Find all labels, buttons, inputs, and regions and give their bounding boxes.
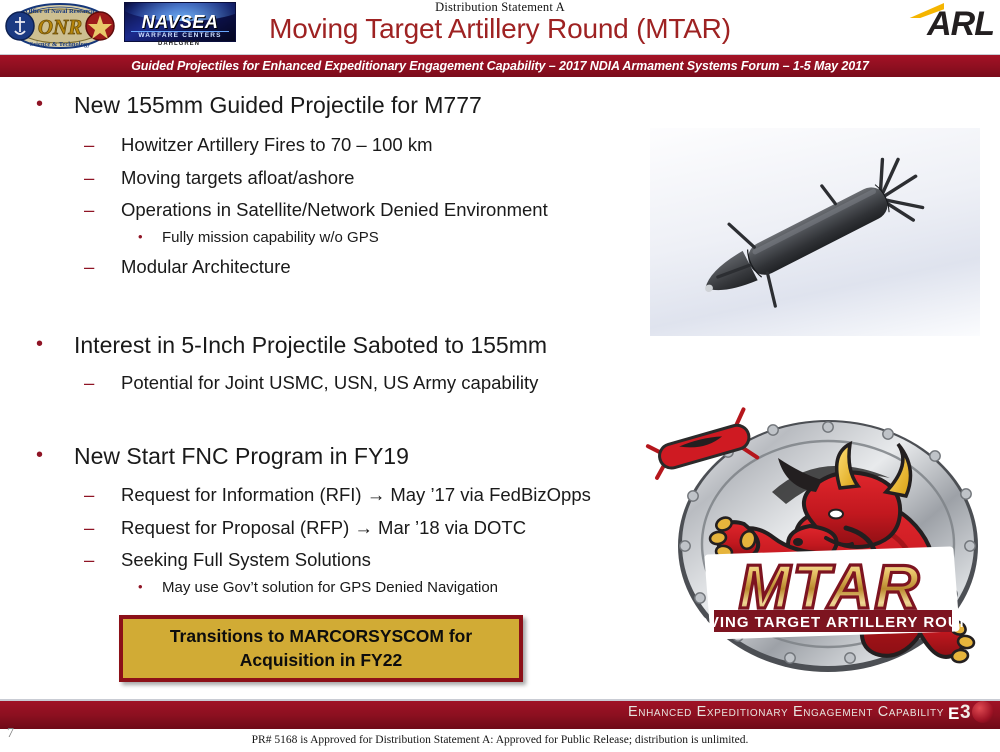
e3c-logo-icon: E 3 — [946, 701, 996, 725]
bullet-l2-item: – Operations in Satellite/Network Denied… — [0, 199, 548, 220]
mtar-emblem-logo: MTAR MOVING TARGET ARTILLERY ROUND — [640, 400, 1000, 692]
dash-marker-icon: – — [84, 256, 94, 277]
bullet-block-3: • New Start FNC Program in FY19 – Reques… — [0, 443, 591, 596]
dash-marker-icon: – — [84, 167, 94, 188]
bullet-l1-text: New Start FNC Program in FY19 — [74, 443, 409, 469]
bullet-l2-text: Howitzer Artillery Fires to 70 – 100 km — [121, 134, 433, 155]
bullet-l1-heading: • Interest in 5-Inch Projectile Saboted … — [0, 332, 547, 358]
mtar-emblem-graphic: MTAR MOVING TARGET ARTILLERY ROUND — [640, 400, 1000, 692]
dash-marker-icon: – — [84, 484, 94, 505]
bullet-l2-text: Operations in Satellite/Network Denied E… — [121, 199, 548, 220]
bullet-l3-item: • May use Gov’t solution for GPS Denied … — [0, 579, 591, 596]
dash-marker-icon: – — [84, 199, 94, 220]
bullet-l2-item: – Potential for Joint USMC, USN, US Army… — [0, 372, 547, 393]
footer-tagline: Enhanced Expeditionary Engagement Capabi… — [628, 704, 944, 720]
e3c-letter-three: 3 — [960, 702, 971, 724]
bullet-l2-text: Request for Information (RFI) → May ’17 … — [121, 484, 591, 505]
bullet-l1-text: Interest in 5-Inch Projectile Saboted to… — [74, 332, 547, 358]
bullet-l1-heading: • New 155mm Guided Projectile for M777 — [0, 92, 548, 118]
callout-line-2: Acquisition in FY22 — [240, 649, 402, 673]
sub-bullet-marker-icon: • — [138, 229, 143, 245]
arl-wordmark: ARL — [886, 5, 994, 44]
bullet-marker-icon: • — [36, 445, 43, 465]
approval-note: PR# 5168 is Approved for Distribution St… — [0, 734, 1000, 746]
e3c-letter-c — [972, 701, 994, 723]
e3c-letter-e: E — [948, 704, 959, 724]
bullet-marker-icon: • — [36, 334, 43, 354]
arl-logo: ARL — [886, 3, 994, 47]
bullet-l2-item: – Seeking Full System Solutions — [0, 549, 591, 570]
bullet-marker-icon: • — [36, 94, 43, 114]
bullet-block-2: • Interest in 5-Inch Projectile Saboted … — [0, 332, 547, 394]
transition-callout-box: Transitions to MARCORSYSCOM for Acquisit… — [119, 615, 523, 682]
mtar-tagline: MOVING TARGET ARTILLERY ROUND — [683, 614, 984, 631]
bullet-l3-item: • Fully mission capability w/o GPS — [0, 229, 548, 246]
page-title: Moving Target Artillery Round (MTAR) — [0, 13, 1000, 45]
dash-marker-icon: – — [84, 549, 94, 570]
event-banner-text: Guided Projectiles for Enhanced Expediti… — [131, 59, 869, 73]
bullet-l3-text: Fully mission capability w/o GPS — [162, 229, 379, 246]
dash-marker-icon: – — [84, 372, 94, 393]
slide-header: Office of Naval Research Science & Techn… — [0, 0, 1000, 52]
dash-marker-icon: – — [84, 517, 94, 538]
bullet-l3-text: May use Gov’t solution for GPS Denied Na… — [162, 579, 498, 596]
bullet-l2-item: – Request for Information (RFI) → May ’1… — [0, 484, 591, 505]
callout-line-1: Transitions to MARCORSYSCOM for — [170, 625, 472, 649]
bullet-l2-text: Modular Architecture — [121, 256, 291, 277]
bullet-l2-text: Moving targets afloat/ashore — [121, 167, 354, 188]
bullet-l2-item: – Moving targets afloat/ashore — [0, 167, 548, 188]
sub-bullet-marker-icon: • — [138, 579, 143, 595]
bullet-l2-text: Seeking Full System Solutions — [121, 549, 371, 570]
dash-marker-icon: – — [84, 134, 94, 155]
bullet-block-1: • New 155mm Guided Projectile for M777 –… — [0, 92, 548, 278]
bullet-l2-item: – Request for Proposal (RFP) → Mar ’18 v… — [0, 517, 591, 538]
projectile-cad-graphic — [650, 128, 980, 336]
bullet-l2-item: – Howitzer Artillery Fires to 70 – 100 k… — [0, 134, 548, 155]
bullet-l2-text: Potential for Joint USMC, USN, US Army c… — [121, 372, 538, 393]
bullet-l2-text: Request for Proposal (RFP) → Mar ’18 via… — [121, 517, 526, 538]
bullet-l2-item: – Modular Architecture — [0, 256, 548, 277]
projectile-cad-image — [650, 128, 980, 336]
bullet-l1-heading: • New Start FNC Program in FY19 — [0, 443, 591, 469]
bullet-l1-text: New 155mm Guided Projectile for M777 — [74, 92, 482, 118]
event-banner: Guided Projectiles for Enhanced Expediti… — [0, 54, 1000, 77]
